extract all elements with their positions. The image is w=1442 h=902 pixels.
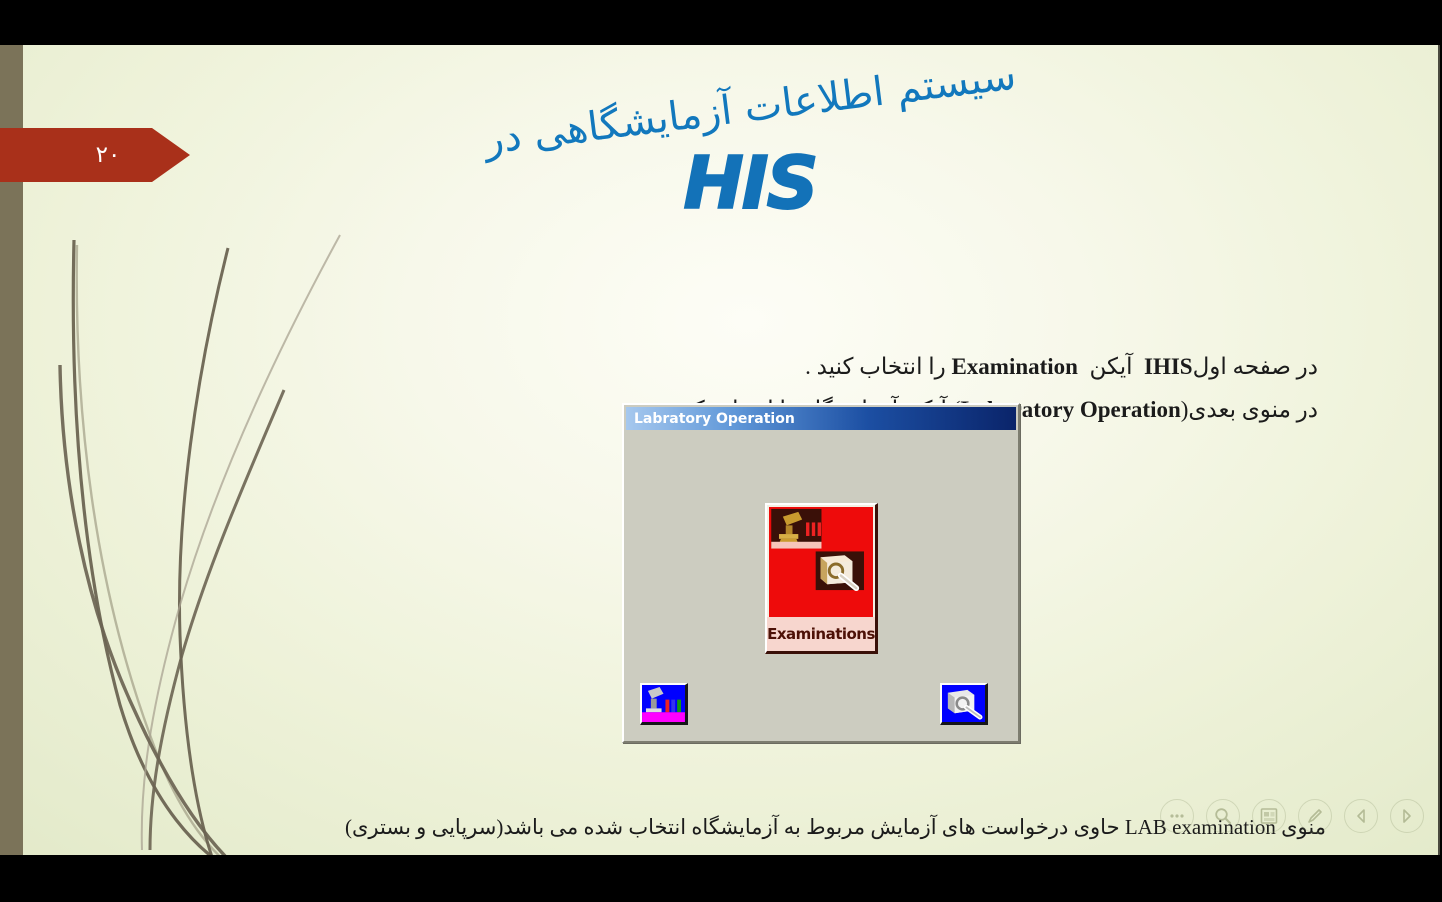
slide-title-block: سیستم اطلاعات آزمایشگاهی در HIS — [300, 85, 1200, 219]
examinations-icon-button[interactable]: Examinations — [765, 503, 878, 654]
pen-icon[interactable] — [1298, 799, 1332, 833]
line2-part-a: در منوی بعدی( — [1181, 397, 1318, 422]
next-slide-icon[interactable] — [1390, 799, 1424, 833]
line1-part-a: در صفحه اول — [1193, 354, 1318, 379]
zoom-search-icon[interactable] — [1206, 799, 1240, 833]
slide-number-text: ۲۰ — [96, 142, 121, 168]
microscope-icon[interactable] — [640, 683, 688, 725]
line1-examination: Examination — [951, 354, 1078, 379]
line1-part-c: را انتخاب کنید . — [805, 354, 946, 379]
viewer-toolbar — [1160, 799, 1424, 833]
examinations-icon-label: Examinations — [767, 617, 875, 651]
presentation-viewer: ۲۰ سیستم اطلاعات آزمایشگاهی در HIS در صف… — [0, 0, 1442, 902]
more-options-icon[interactable] — [1160, 799, 1194, 833]
line1-ihis: IHIS — [1144, 354, 1193, 379]
window-titlebar[interactable]: Labratory Operation — [626, 407, 1016, 430]
labratory-operation-window[interactable]: Labratory Operation — [622, 403, 1020, 743]
slide-canvas: ۲۰ سیستم اطلاعات آزمایشگاهی در HIS در صف… — [0, 45, 1440, 855]
line3-part-b: حاوی درخواست های آزمایش مربوط به آزمایشگ… — [345, 815, 1120, 839]
body-line-1: در صفحه اولIHIS آیکن Examination را انتخ… — [805, 354, 1318, 380]
window-client-area: Examinations — [624, 430, 1018, 739]
report-magnifier-icon-glyph — [942, 685, 985, 722]
line1-part-b: آیکن — [1089, 354, 1132, 379]
slide-grid-icon[interactable] — [1252, 799, 1286, 833]
microscope-icon-glyph — [642, 685, 685, 722]
previous-slide-icon[interactable] — [1344, 799, 1378, 833]
window-title: Labratory Operation — [626, 411, 795, 427]
report-magnifier-icon[interactable] — [940, 683, 988, 725]
slide-number-badge: ۲۰ — [0, 128, 190, 182]
